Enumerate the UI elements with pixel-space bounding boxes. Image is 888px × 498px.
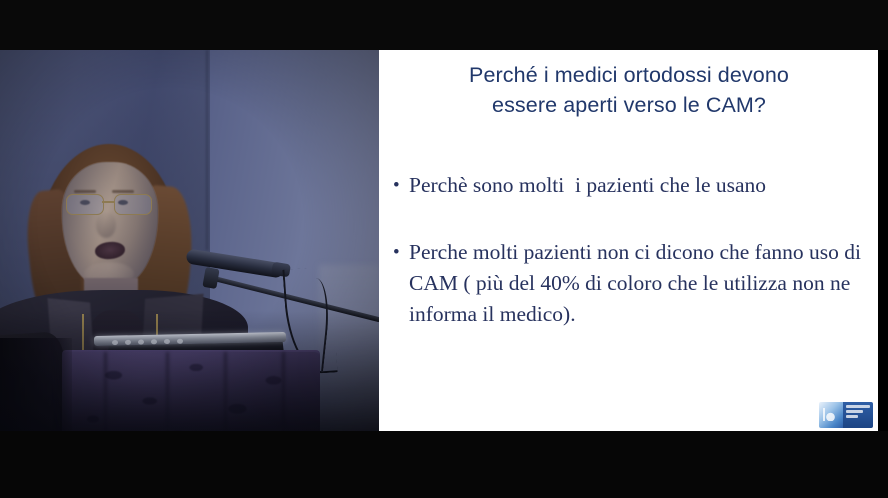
bullet-icon: • [393,170,409,201]
eyebrow-right [112,190,134,193]
video-lower-shadow [0,311,379,431]
bullet-text: Perche molti pazienti non ci dicono che … [409,237,871,330]
content-band: Perché i medici ortodossi devono essere … [0,50,888,431]
logo-wordmark [843,402,873,428]
glasses-lens-right [114,194,152,215]
slide-right-border [878,50,888,431]
glasses-lens-left [66,194,104,215]
nose [96,212,116,238]
bullet-text: Perchè sono molti i pazienti che le usan… [409,170,871,201]
letterbox-bottom [0,431,888,498]
list-item: • Perche molti pazienti non ci dicono ch… [393,237,871,330]
slide-bullet-list: • Perchè sono molti i pazienti che le us… [393,170,871,330]
glasses-bridge [102,201,114,203]
eyebrow-left [74,190,96,193]
screenshot-root: Perché i medici ortodossi devono essere … [0,0,888,498]
presentation-slide: Perché i medici ortodossi devono essere … [379,50,879,431]
letterbox-top [0,0,888,50]
slide-title-line-1: Perché i medici ortodossi devono [399,60,859,90]
slide-title-line-2: essere aperti verso le CAM? [399,90,859,120]
logo-emblem-icon [819,402,843,428]
presenter-video-pane [0,50,379,431]
eyeglasses [64,194,156,214]
bullet-icon: • [393,237,409,268]
slide-title: Perché i medici ortodossi devono essere … [399,60,859,120]
list-item: • Perchè sono molti i pazienti che le us… [393,170,871,201]
institution-logo-icon [819,402,873,428]
